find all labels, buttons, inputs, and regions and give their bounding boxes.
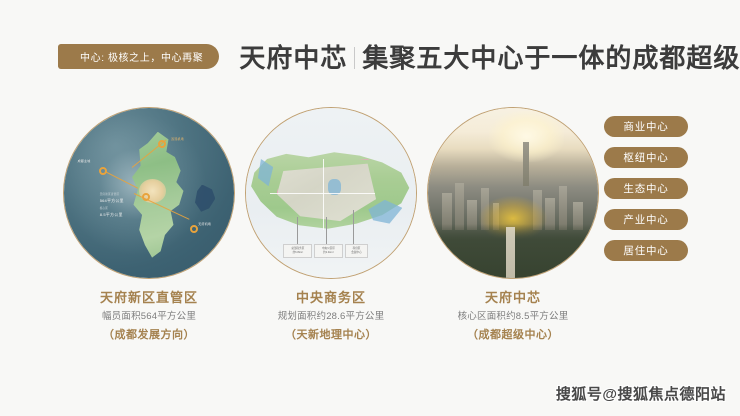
plan-leader-line-1	[297, 217, 298, 246]
region-leader-line-left	[105, 171, 139, 189]
caption-title: 天府中芯	[424, 288, 602, 308]
plan-callout-card-3: 科创区会展中心	[345, 244, 369, 258]
page-title-sub: 集聚五大中心于一体的成都超级中芯	[362, 38, 740, 75]
caption-note: （天新地理中心）	[242, 326, 420, 344]
region-center-annotation: 天府新区直管区564平方公里核心区8.5平方公里	[100, 191, 124, 218]
pill-commercial-center: 商业中心	[604, 116, 688, 137]
caption-row: 天府新区直管区 幅员面积564平方公里 （成都发展方向） 中央商务区 规划面积约…	[60, 288, 605, 344]
pill-residential-center: 居住中心	[604, 240, 688, 261]
region-secondary-islet	[193, 185, 215, 212]
aerial-cityscape-photo	[428, 108, 598, 278]
caption-block-2: 中央商务区 规划面积约28.6平方公里 （天新地理中心）	[242, 288, 420, 344]
caption-block-3: 天府中芯 核心区面积约8.5平方公里 （成都超级中心）	[424, 288, 602, 344]
plan-callout-card-1: 总部商务区约6.8km²	[283, 244, 312, 258]
caption-subtitle: 规划面积约28.6平方公里	[242, 308, 420, 326]
caption-block-1: 天府新区直管区 幅员面积564平方公里 （成都发展方向）	[60, 288, 238, 344]
plan-callout-card-2: 中央公园带约2.4km²	[314, 244, 343, 258]
caption-subtitle: 幅员面积564平方公里	[60, 308, 238, 326]
pill-ecology-center: 生态中心	[604, 178, 688, 199]
page-title: 天府中芯 集聚五大中心于一体的成都超级中芯	[239, 38, 740, 75]
photo-central-axis	[506, 227, 515, 278]
regional-map-graphic: 双流机场 成都主城 天府机场 天府新区直管区564平方公里核心区8.5平方公里	[64, 108, 234, 278]
region-node-top-label: 双流机场	[171, 137, 184, 142]
caption-subtitle: 核心区面积约8.5平方公里	[424, 308, 602, 326]
slide-root: 中心: 极核之上，中心再聚 天府中芯 集聚五大中心于一体的成都超级中芯	[0, 0, 740, 416]
photo-landmark-tower	[523, 142, 529, 186]
plan-leader-line-3	[353, 210, 354, 246]
region-node-right-label: 天府机场	[198, 222, 211, 227]
region-node-top	[158, 140, 166, 148]
circle-image-cbd-master-plan: 总部商务区约6.8km² 中央公园带约2.4km² 科创区会展中心	[245, 107, 417, 279]
pill-industry-center: 产业中心	[604, 209, 688, 230]
cbd-master-plan-graphic: 总部商务区约6.8km² 中央公园带约2.4km² 科创区会展中心	[246, 108, 416, 278]
caption-title: 天府新区直管区	[60, 288, 238, 308]
region-node-left-label: 成都主城	[78, 159, 91, 164]
plan-leader-line-2	[326, 217, 327, 246]
pill-hub-center: 枢纽中心	[604, 147, 688, 168]
circle-image-row: 双流机场 成都主城 天府机场 天府新区直管区564平方公里核心区8.5平方公里	[60, 107, 605, 285]
header: 中心: 极核之上，中心再聚 天府中芯 集聚五大中心于一体的成都超级中芯	[0, 40, 740, 72]
eyebrow-badge: 中心: 极核之上，中心再聚	[58, 44, 219, 69]
circle-column-2: 总部商务区约6.8km² 中央公园带约2.4km² 科创区会展中心	[242, 107, 420, 279]
watermark: 搜狐号@搜狐焦点德阳站	[556, 383, 726, 404]
caption-title: 中央商务区	[242, 288, 420, 308]
page-title-main: 天府中芯	[239, 38, 347, 75]
circle-image-regional-map: 双流机场 成都主城 天府机场 天府新区直管区564平方公里核心区8.5平方公里	[63, 107, 235, 279]
caption-note: （成都发展方向）	[60, 326, 238, 344]
circle-column-1: 双流机场 成都主城 天府机场 天府新区直管区564平方公里核心区8.5平方公里	[60, 107, 238, 279]
region-node-left	[99, 167, 107, 175]
circle-column-3	[424, 107, 602, 279]
caption-note: （成都超级中心）	[424, 326, 602, 344]
plan-road-vertical	[323, 159, 324, 230]
region-node-right	[190, 225, 198, 233]
circle-image-aerial-cityscape	[427, 107, 599, 279]
center-type-pill-list: 商业中心 枢纽中心 生态中心 产业中心 居住中心	[604, 116, 688, 261]
title-divider	[354, 47, 355, 69]
